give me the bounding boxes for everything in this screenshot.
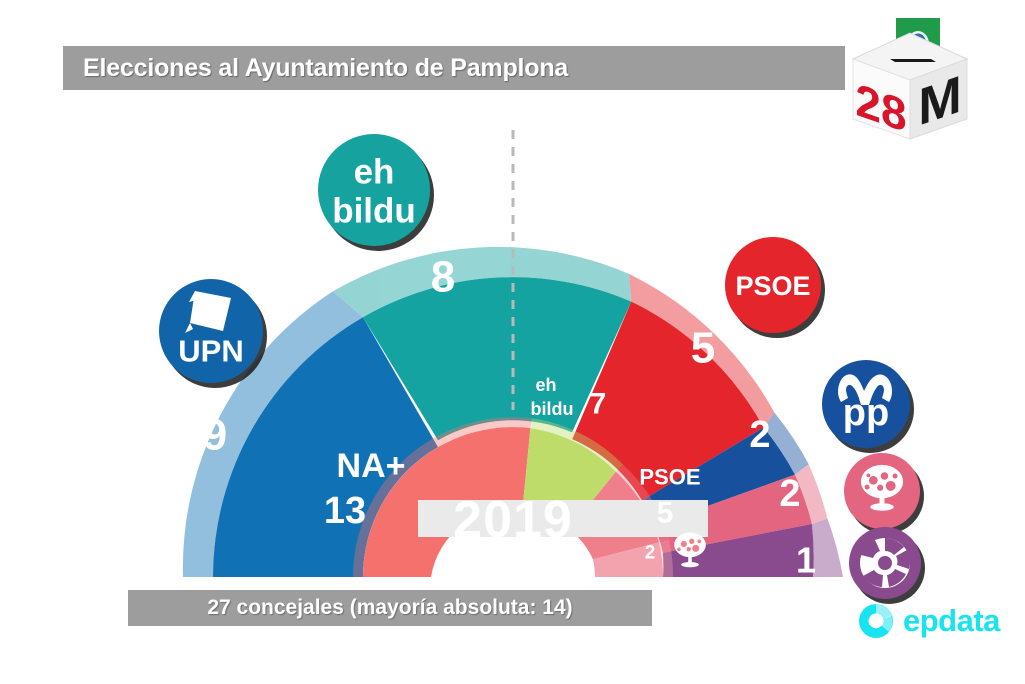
badge-ehbildu-label-1: eh bbox=[354, 153, 395, 192]
badge-contigo[interactable] bbox=[849, 527, 925, 604]
inner-label-ehbildu-line1: eh bbox=[535, 375, 556, 395]
outer-seats-geroabai: 2 bbox=[779, 473, 800, 515]
outer-seats-upn: 9 bbox=[203, 411, 227, 460]
outer-seats-contigo: 1 bbox=[796, 540, 816, 581]
seats-hemicycle-chart: 2019 9 8 5 2 2 1 NA+ 13 eh bildu 7 PSOE … bbox=[0, 0, 1025, 684]
inner-label-naplus: NA+ bbox=[337, 447, 406, 485]
badge-pp[interactable]: pp bbox=[822, 360, 914, 453]
badge-ehbildu[interactable]: eh bildu bbox=[318, 134, 434, 251]
inner-seats-geroabai: 2 bbox=[645, 543, 656, 564]
badge-psoe-label: PSOE bbox=[735, 271, 810, 301]
inner-seats-psoe: 5 bbox=[657, 497, 674, 530]
outer-seats-pp: 2 bbox=[749, 414, 770, 456]
epdata-wordmark: epdata bbox=[903, 603, 1000, 639]
infographic-canvas: Elecciones al Ayuntamiento de Pamplona bbox=[0, 0, 1025, 684]
outer-seats-ehbildu: 8 bbox=[431, 253, 455, 302]
footer-text: 27 concejales (mayoría absoluta: 14) bbox=[207, 596, 572, 620]
badge-upn[interactable]: UPN bbox=[159, 279, 267, 388]
badge-psoe[interactable]: PSOE bbox=[725, 237, 825, 338]
badge-upn-label: UPN bbox=[178, 334, 243, 369]
epdata-logo[interactable]: epdata bbox=[858, 603, 1000, 639]
year-label: 2019 bbox=[453, 491, 573, 549]
badge-geroabai[interactable] bbox=[844, 453, 924, 534]
inner-label-ehbildu-line2: bildu bbox=[531, 399, 574, 419]
outer-seats-psoe: 5 bbox=[691, 324, 715, 373]
badge-ehbildu-label-2: bildu bbox=[332, 192, 416, 231]
footer-bar: 27 concejales (mayoría absoluta: 14) bbox=[128, 590, 652, 626]
inner-seats-naplus: 13 bbox=[324, 490, 366, 532]
badge-pp-label: pp bbox=[843, 392, 889, 434]
epdata-donut-icon bbox=[858, 603, 894, 639]
inner-label-psoe: PSOE bbox=[639, 465, 700, 490]
globe-icon bbox=[860, 538, 910, 588]
inner-seats-ehbildu: 7 bbox=[590, 388, 607, 421]
